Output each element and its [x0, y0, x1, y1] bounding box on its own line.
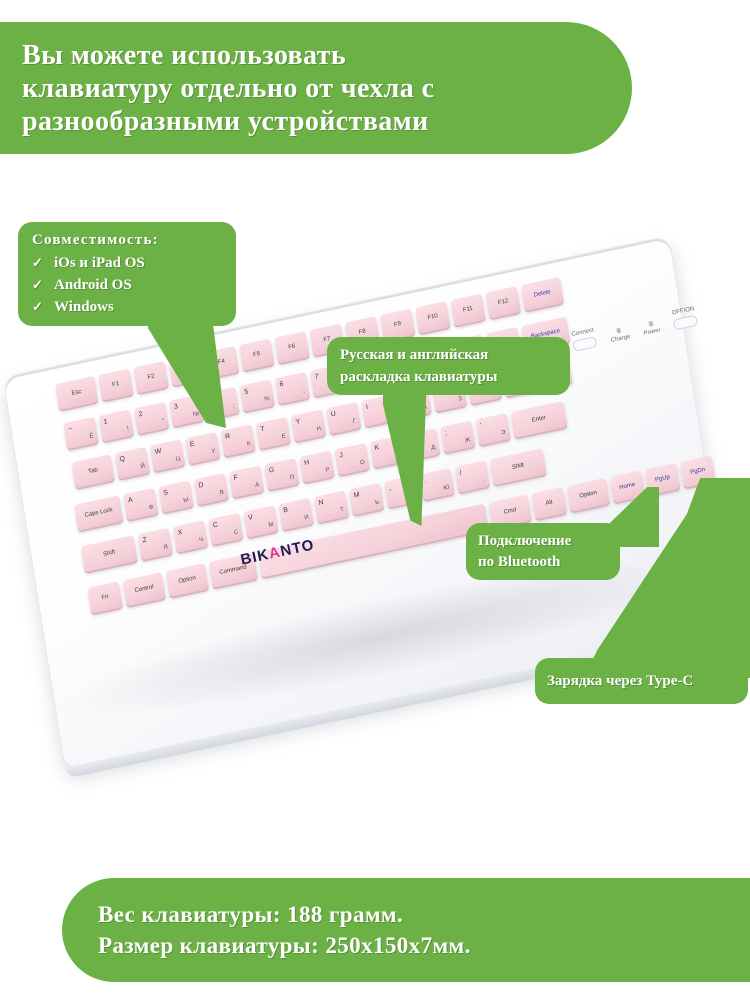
- key-latin-label: F: [233, 474, 238, 482]
- key-cyrillic-label: М: [268, 522, 274, 529]
- key-label: F12: [498, 298, 509, 306]
- keyboard-key[interactable]: Caps Lock: [74, 495, 123, 530]
- key-cyrillic-label: В: [219, 490, 224, 497]
- keyboard-key[interactable]: WЦ: [150, 439, 185, 471]
- key-label: Option: [178, 575, 196, 585]
- bluetooth-line-1: Подключение: [478, 531, 620, 552]
- key-cyrillic-label: Й: [140, 463, 145, 470]
- key-latin-label: Q: [119, 455, 125, 463]
- keyboard-key[interactable]: FА: [229, 465, 264, 497]
- keyboard-key[interactable]: JО: [334, 443, 369, 475]
- key-cyrillic-label: Ф: [149, 504, 154, 511]
- key-latin-label: N: [318, 499, 324, 507]
- keyboard-key[interactable]: Option: [567, 478, 610, 512]
- keyboard-key[interactable]: XЧ: [173, 520, 208, 552]
- key-label: Caps Lock: [84, 507, 113, 519]
- keyboard-key[interactable]: 1!: [99, 409, 134, 441]
- keyboard-key[interactable]: 2": [134, 402, 169, 434]
- keyboard-key[interactable]: TЕ: [255, 417, 290, 449]
- key-cyrillic-label: ": [162, 418, 165, 424]
- keyboard-key[interactable]: Option: [166, 563, 209, 597]
- key-latin-label: U: [330, 411, 336, 419]
- key-latin-label: K: [374, 444, 380, 452]
- key-cyrillic-label: О: [360, 460, 366, 467]
- key-cyrillic-label: Д: [431, 445, 436, 452]
- key-label: Delete: [533, 289, 551, 299]
- key-label: Control: [134, 584, 154, 594]
- footer-line-size: Размер клавиатуры: 250x150x7мм.: [98, 930, 750, 961]
- key-latin-label: Z: [142, 537, 147, 545]
- key-label: F2: [147, 373, 155, 380]
- key-label: F6: [288, 343, 296, 350]
- typec-line-1: Зарядка через Type-C: [547, 671, 748, 691]
- key-cyrillic-label: Ы: [183, 497, 189, 504]
- keyboard-key[interactable]: F12: [485, 286, 520, 318]
- key-cyrillic-label: И: [304, 514, 309, 521]
- power-led-icon: [648, 321, 653, 327]
- keyboard-key[interactable]: SЫ: [158, 480, 193, 512]
- key-label: Cmd: [503, 507, 516, 516]
- keyboard-key[interactable]: Shift: [81, 535, 138, 572]
- keyboard-key[interactable]: ZЯ: [138, 528, 173, 560]
- key-cyrillic-label: Е: [281, 433, 286, 440]
- layout-line-2: раскладка клавиатуры: [340, 366, 570, 388]
- keyboard-key[interactable]: GП: [264, 458, 299, 490]
- keyboard-key[interactable]: UГ: [326, 402, 361, 434]
- keyboard-key[interactable]: AФ: [123, 488, 158, 520]
- key-label: Alt: [545, 499, 553, 506]
- typec-callout: Зарядка через Type-C: [535, 658, 748, 704]
- keyboard-key[interactable]: F11: [450, 294, 485, 326]
- keyboard-key[interactable]: DВ: [194, 473, 229, 505]
- key-label: Option: [579, 490, 597, 500]
- key-latin-label: X: [177, 529, 183, 537]
- footer-specs-banner: Вес клавиатуры: 188 грамм. Размер клавиа…: [62, 878, 750, 982]
- keyboard-key[interactable]: Shift: [490, 448, 547, 485]
- key-latin-label: G: [268, 467, 274, 475]
- keyboard-key[interactable]: Alt: [531, 487, 566, 519]
- power-switch-pill-icon: [673, 315, 699, 331]
- keyboard-key[interactable]: F6: [274, 331, 309, 363]
- compatibility-item-label: Android OS: [54, 275, 132, 296]
- key-latin-label: H: [304, 459, 310, 467]
- header-banner: Вы можете использовать клавиатуру отдель…: [0, 22, 632, 154]
- key-latin-label: C: [212, 521, 218, 529]
- keyboard-key[interactable]: F2: [133, 361, 168, 393]
- key-cyrillic-label: Я: [163, 544, 168, 551]
- key-latin-label: D: [198, 482, 204, 490]
- header-line-1: Вы можете использовать: [22, 39, 632, 72]
- keyboard-key[interactable]: BИ: [278, 498, 313, 530]
- key-latin-label: J: [339, 452, 344, 460]
- charge-led-icon: [616, 328, 621, 334]
- key-label: F1: [112, 381, 120, 388]
- key-cyrillic-label: Ж: [464, 437, 470, 444]
- key-latin-label: ;: [445, 430, 448, 437]
- footer-line-weight: Вес клавиатуры: 188 грамм.: [98, 899, 750, 930]
- list-item: ✓ iOs и iPad OS: [32, 252, 236, 274]
- keyboard-key[interactable]: HР: [299, 450, 334, 482]
- key-cyrillic-label: Н: [316, 426, 321, 433]
- key-label: F10: [427, 313, 438, 321]
- key-cyrillic-label: С: [234, 529, 239, 536]
- key-label: PgUp: [655, 474, 671, 483]
- keyboard-key[interactable]: Tab: [72, 454, 115, 488]
- layout-line-1: Русская и английская: [340, 344, 570, 366]
- list-item: ✓ Android OS: [32, 274, 236, 296]
- keyboard-key[interactable]: MЬ: [349, 483, 384, 515]
- key-cyrillic-label: №: [193, 411, 200, 418]
- key-latin-label: R: [225, 433, 231, 441]
- keyboard-key[interactable]: Control: [123, 572, 166, 606]
- keyboard-key[interactable]: 5%: [239, 379, 274, 411]
- key-cyrillic-label: :: [303, 388, 306, 394]
- compatibility-callout: Совместимость: ✓ iOs и iPad OS ✓ Android…: [18, 222, 236, 326]
- key-label: F9: [394, 321, 402, 328]
- key-cyrillic-label: Г: [353, 418, 357, 425]
- key-latin-label: 5: [244, 388, 249, 396]
- key-label: Shift: [103, 549, 116, 557]
- keyboard-key[interactable]: EУ: [185, 432, 220, 464]
- keyboard-key[interactable]: CС: [208, 513, 243, 545]
- key-cyrillic-label: П: [290, 475, 295, 482]
- key-latin-label: I: [366, 404, 369, 411]
- key-latin-label: 1: [103, 418, 108, 426]
- key-latin-label: 3: [173, 403, 178, 411]
- key-cyrillic-label: З: [458, 396, 462, 403]
- key-latin-label: Y: [295, 418, 301, 426]
- key-cyrillic-label: Ю: [443, 484, 450, 491]
- keyboard-key[interactable]: ;Ж: [440, 420, 475, 452]
- bluetooth-line-2: по Bluetooth: [478, 552, 620, 573]
- key-latin-label: T: [260, 426, 265, 434]
- key-label: Shift: [512, 463, 525, 471]
- keyboard-key[interactable]: F10: [415, 301, 450, 333]
- check-icon: ✓: [32, 252, 45, 273]
- key-latin-label: 2: [138, 411, 143, 419]
- keyboard-key[interactable]: Enter: [510, 401, 567, 438]
- key-label: F5: [253, 351, 261, 358]
- key-latin-label: .: [424, 477, 427, 484]
- key-latin-label: W: [154, 448, 162, 456]
- compatibility-item-label: iOs и iPad OS: [54, 253, 145, 274]
- key-cyrillic-label: .: [483, 477, 486, 483]
- key-latin-label: ~: [68, 426, 73, 434]
- key-cyrillic-label: Р: [325, 467, 330, 474]
- key-latin-label: M: [353, 491, 360, 499]
- key-cyrillic-label: Ё: [89, 433, 94, 440]
- bluetooth-callout: Подключение по Bluetooth: [466, 523, 620, 580]
- keyboard-key[interactable]: YН: [291, 409, 326, 441]
- key-latin-label: /: [459, 470, 462, 477]
- key-latin-label: A: [128, 497, 134, 505]
- keyboard-key[interactable]: F1: [98, 368, 133, 400]
- key-cyrillic-label: К: [247, 441, 251, 448]
- key-latin-label: B: [283, 507, 289, 515]
- check-icon: ✓: [32, 274, 45, 295]
- keyboard-key[interactable]: Fn: [87, 581, 122, 613]
- keyboard-key[interactable]: /.: [454, 460, 489, 492]
- key-cyrillic-label: !: [127, 426, 130, 432]
- keyboard-key[interactable]: F5: [239, 338, 274, 370]
- keyboard-key[interactable]: .Ю: [419, 468, 454, 500]
- check-icon: ✓: [32, 296, 45, 317]
- key-latin-label: ': [480, 422, 482, 429]
- header-line-3: разнообразными устройствами: [22, 105, 632, 138]
- key-cyrillic-label: У: [211, 448, 216, 455]
- key-label: Tab: [88, 467, 98, 475]
- key-label: Fn: [101, 594, 109, 601]
- key-latin-label: 6: [279, 381, 284, 389]
- keyboard-key[interactable]: ~Ё: [63, 417, 98, 449]
- list-item: ✓ Windows: [32, 296, 236, 318]
- compatibility-item-label: Windows: [54, 297, 114, 318]
- keyboard-key[interactable]: 6:: [275, 372, 310, 404]
- key-cyrillic-label: Э: [501, 430, 506, 437]
- compatibility-list: ✓ iOs и iPad OS ✓ Android OS ✓ Windows: [32, 252, 236, 318]
- key-label: F4: [218, 358, 226, 365]
- key-label: Enter: [531, 415, 546, 424]
- compatibility-title: Совместимость:: [32, 230, 236, 250]
- key-cyrillic-label: ;: [232, 403, 235, 409]
- key-latin-label: S: [163, 489, 169, 497]
- key-latin-label: ,: [389, 485, 392, 492]
- header-line-2: клавиатуру отдельно от чехла с: [22, 72, 632, 105]
- key-cyrillic-label: А: [255, 482, 260, 489]
- keyboard-key[interactable]: 'Э: [475, 413, 510, 445]
- key-label: F11: [463, 306, 474, 314]
- key-cyrillic-label: %: [264, 396, 270, 403]
- keyboard-key[interactable]: QЙ: [115, 447, 150, 479]
- key-label: PgDn: [690, 467, 706, 476]
- key-cyrillic-label: Ц: [175, 456, 180, 463]
- power-switch[interactable]: OFF/ON: [671, 306, 699, 331]
- key-latin-label: V: [248, 514, 254, 522]
- key-label: F8: [358, 329, 366, 336]
- key-cyrillic-label: Т: [340, 507, 345, 514]
- key-cyrillic-label: Ч: [199, 537, 204, 544]
- keyboard-layout-callout: Русская и английская раскладка клавиатур…: [327, 337, 570, 395]
- key-label: Esc: [71, 389, 82, 397]
- key-cyrillic-label: Ь: [375, 499, 380, 506]
- keyboard-key[interactable]: VМ: [243, 505, 278, 537]
- key-label: Home: [619, 482, 636, 491]
- keyboard-key[interactable]: RК: [220, 424, 255, 456]
- key-latin-label: E: [190, 441, 196, 449]
- keyboard-key[interactable]: NТ: [314, 490, 349, 522]
- key-latin-label: 7: [314, 373, 319, 381]
